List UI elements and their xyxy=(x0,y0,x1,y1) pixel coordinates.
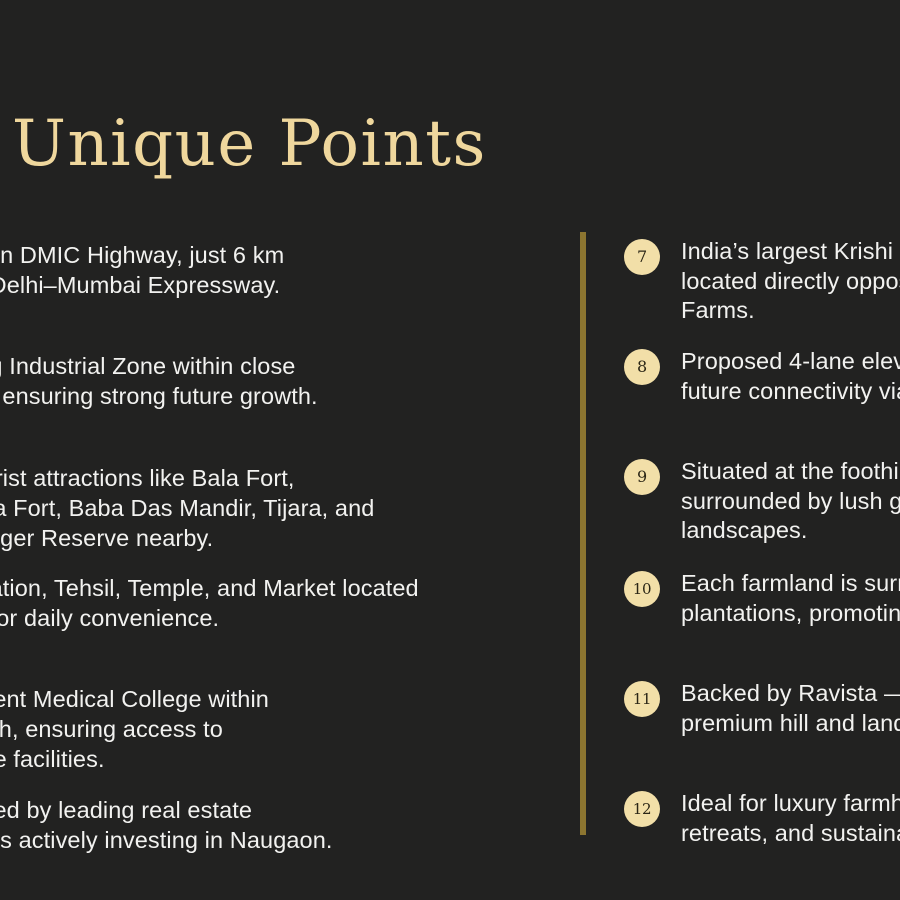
right-point-line: Ideal for luxury farmhouses, weekend xyxy=(681,789,900,819)
point-number-badge: 12 xyxy=(624,791,660,827)
point-number-badge: 10 xyxy=(624,571,660,607)
point-text: India’s largest Krishi Mandilocated dire… xyxy=(681,237,900,326)
left-point-line: Government Medical College within xyxy=(0,684,456,714)
left-point-line: Upcoming Industrial Zone within close xyxy=(0,351,456,381)
left-point-line: proximity, ensuring strong future growth… xyxy=(0,381,456,411)
point-text: Backed by Ravista — a trusted name inpre… xyxy=(681,679,900,738)
left-point-line: Major tourist attractions like Bala Fort… xyxy=(0,463,456,493)
left-point-6: Surrounded by leading real estatedevelop… xyxy=(0,795,456,855)
slide-canvas: Unique Points Located on DMIC Highway, j… xyxy=(0,0,900,900)
point-text: Situated at the foothills of the Aravall… xyxy=(681,457,900,546)
point-text: Ideal for luxury farmhouses, weekendretr… xyxy=(681,789,900,848)
left-point-line: easy reach, ensuring access to xyxy=(0,714,456,744)
right-point-line: surrounded by lush green xyxy=(681,487,900,517)
left-point-line: Sariska Tiger Reserve nearby. xyxy=(0,523,456,553)
right-point-line: future connectivity via NH-48. xyxy=(681,377,900,407)
right-point-line: retreats, and sustainable living. xyxy=(681,819,900,849)
left-point-line: Neemrana Fort, Baba Das Mandir, Tijara, … xyxy=(0,493,456,523)
column-divider xyxy=(580,232,586,835)
right-point-line: Each farmland is surrounded by fruit xyxy=(681,569,900,599)
right-point-line: located directly opposite the xyxy=(681,267,900,297)
right-point-line: India’s largest Krishi Mandi xyxy=(681,237,900,267)
point-number-badge: 11 xyxy=(624,681,660,717)
left-point-3: Major tourist attractions like Bala Fort… xyxy=(0,463,456,553)
left-point-line: from the Delhi–Mumbai Expressway. xyxy=(0,270,456,300)
right-point-line: Backed by Ravista — a trusted name in xyxy=(681,679,900,709)
left-point-1: Located on DMIC Highway, just 6 kmfrom t… xyxy=(0,240,456,300)
right-point-line: Situated at the foothills of the Aravall… xyxy=(681,457,900,487)
left-point-line: Surrounded by leading real estate xyxy=(0,795,456,825)
right-point-line: landscapes. xyxy=(681,516,900,546)
point-number-badge: 9 xyxy=(624,459,660,495)
right-point-line: Farms. xyxy=(681,296,900,326)
point-text: Each farmland is surrounded by fruitplan… xyxy=(681,569,900,628)
left-point-line: close by for daily convenience. xyxy=(0,603,456,633)
right-point-line: Proposed 4-lane elevated road for xyxy=(681,347,900,377)
left-point-line: Police Station, Tehsil, Temple, and Mark… xyxy=(0,573,456,603)
right-point-line: premium hill and land developments. xyxy=(681,709,900,739)
left-point-2: Upcoming Industrial Zone within closepro… xyxy=(0,351,456,411)
left-point-5: Government Medical College withineasy re… xyxy=(0,684,456,774)
page-title: Unique Points xyxy=(12,103,487,185)
point-number-badge: 8 xyxy=(624,349,660,385)
point-text: Proposed 4-lane elevated road forfuture … xyxy=(681,347,900,406)
right-point-line: plantations, promoting organic living. xyxy=(681,599,900,629)
point-number-badge: 7 xyxy=(624,239,660,275)
left-point-line: developers actively investing in Naugaon… xyxy=(0,825,456,855)
left-point-4: Police Station, Tehsil, Temple, and Mark… xyxy=(0,573,456,633)
left-point-line: healthcare facilities. xyxy=(0,744,456,774)
left-point-line: Located on DMIC Highway, just 6 km xyxy=(0,240,456,270)
